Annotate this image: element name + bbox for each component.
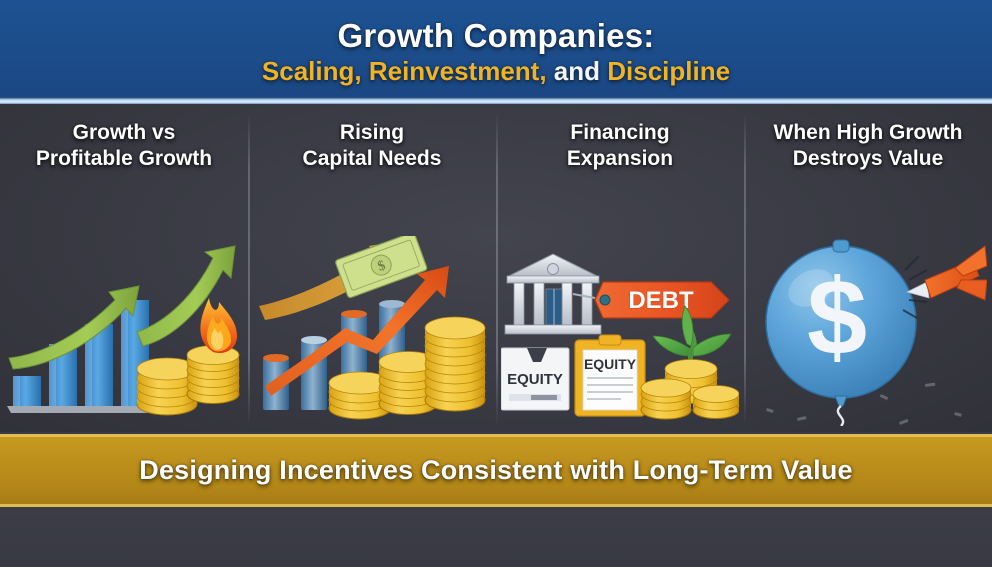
dart-icon (907, 246, 987, 300)
page-subtitle: Scaling, Reinvestment, and Discipline (262, 57, 730, 86)
equity-clipboard-label: EQUITY (584, 356, 637, 372)
footer-banner: Designing Incentives Consistent with Lon… (0, 434, 992, 507)
equity-clipboard-icon: EQUITY (575, 335, 645, 416)
panel-3-title: Financing Expansion (561, 120, 679, 178)
panel-1-illustration (0, 178, 248, 432)
equity-paper-label: EQUITY (507, 371, 563, 388)
footer-area: Designing Incentives Consistent with Lon… (0, 432, 992, 567)
coin-stack-icon-left (641, 379, 691, 419)
panel-4-title-line1: When High Growth (774, 120, 963, 146)
panel-rising-capital-needs: Rising Capital Needs (248, 104, 496, 432)
panel-2-title: Rising Capital Needs (297, 120, 448, 178)
bank-icon (505, 254, 601, 334)
flame-icon (200, 298, 237, 353)
panel-growth-vs-profitable-growth: Growth vs Profitable Growth (0, 104, 248, 432)
panel-3-illustration: DEBT EQUITY EQUIT (496, 178, 744, 432)
dollar-sign-icon: $ (807, 256, 867, 377)
panel-2-illustration: $ (248, 178, 496, 432)
panel-4-title: When High Growth Destroys Value (768, 120, 969, 178)
panel-1-title-line2: Profitable Growth (36, 146, 212, 172)
footer-base (0, 510, 992, 567)
slide-root: Growth Companies: Scaling, Reinvestment,… (0, 0, 992, 567)
chart-baseline-icon (7, 406, 153, 413)
balloon-icon: $ (766, 240, 916, 426)
panel-3-title-line2: Expansion (567, 146, 673, 172)
panel-when-high-growth-destroys-value: When High Growth Destroys Value (744, 104, 992, 432)
coin-stack-icon-tall (187, 346, 239, 404)
panel-4-illustration: $ (744, 178, 992, 432)
dollar-balloon-popped-by-dart-graphic: $ (749, 236, 987, 426)
subtitle-part-scaling: Scaling, (262, 56, 362, 86)
panel-3-title-line1: Financing (567, 120, 673, 146)
subtitle-part-and: and (554, 56, 600, 86)
panel-1-title: Growth vs Profitable Growth (30, 120, 218, 178)
panel-4-title-line2: Destroys Value (774, 146, 963, 172)
dollar-bill-icon: $ (335, 236, 428, 298)
bar-chart-red-arrow-dollar-bill-coin-stacks-graphic: $ (253, 236, 491, 426)
header-banner: Growth Companies: Scaling, Reinvestment,… (0, 0, 992, 104)
bar-chart-green-arrows-burning-coins-graphic (5, 236, 243, 426)
coin-stack-icon-right (693, 386, 739, 419)
subtitle-part-reinvestment: Reinvestment, (369, 56, 547, 86)
bank-debt-equity-plant-coins-graphic: DEBT EQUITY EQUIT (501, 236, 739, 426)
page-title: Growth Companies: (338, 19, 655, 54)
coin-stack-icon-tall (425, 317, 485, 411)
panel-row: Growth vs Profitable Growth (0, 104, 992, 432)
footer-banner-text: Designing Incentives Consistent with Lon… (139, 455, 853, 486)
debt-tag-icon: DEBT (573, 282, 729, 318)
panel-2-title-line2: Capital Needs (303, 146, 442, 172)
panel-2-title-line1: Rising (303, 120, 442, 146)
panel-1-title-line1: Growth vs (36, 120, 212, 146)
panel-financing-expansion: Financing Expansion (496, 104, 744, 432)
subtitle-part-discipline: Discipline (607, 56, 730, 86)
equity-document-icon: EQUITY (501, 348, 569, 410)
